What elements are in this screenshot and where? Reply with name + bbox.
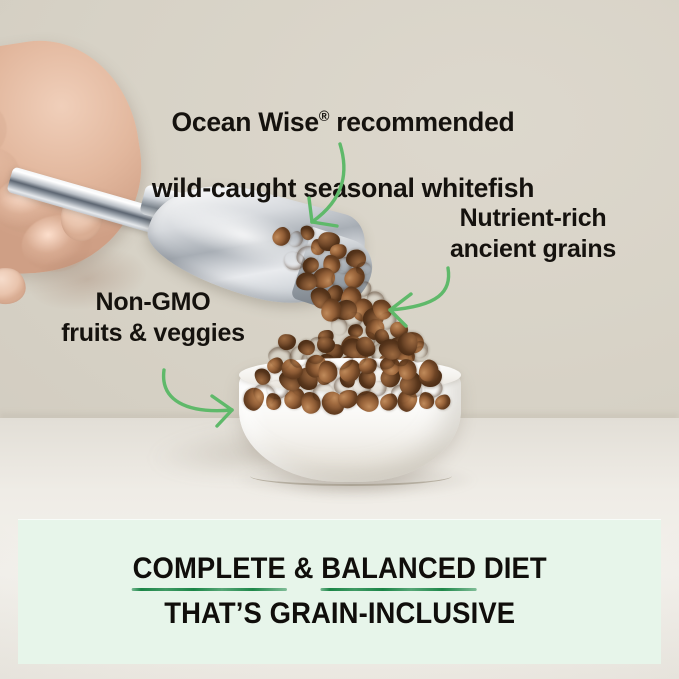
banner-word-balanced: BALANCED: [321, 552, 476, 586]
banner-ampersand: &: [286, 552, 321, 585]
kibble-piece: [355, 261, 371, 275]
banner-word-diet: DIET: [476, 552, 547, 585]
banner-word-complete: COMPLETE: [132, 552, 285, 586]
callout-ocean-wise-line1: Ocean Wise® recommended: [172, 107, 515, 137]
callout-ocean-wise-line2: wild-caught seasonal whitefish: [152, 173, 534, 203]
banner-content: COMPLETE & BALANCED DIET THAT’S GRAIN-IN…: [18, 519, 661, 664]
callout-nutrient-rich: Nutrient-rich ancient grains: [418, 203, 648, 265]
bottom-banner: COMPLETE & BALANCED DIET THAT’S GRAIN-IN…: [18, 519, 661, 664]
banner-headline-line1: COMPLETE & BALANCED DIET: [132, 552, 546, 586]
bowl-foot-line: [250, 466, 452, 486]
callout-non-gmo: Non-GMO fruits & veggies: [28, 287, 278, 349]
product-infographic: Ocean Wise® recommended wild-caught seas…: [0, 0, 679, 679]
registered-trademark-symbol: ®: [319, 109, 329, 125]
banner-headline-line2: THAT’S GRAIN-INCLUSIVE: [164, 597, 515, 631]
callout-ocean-wise: Ocean Wise® recommended wild-caught seas…: [96, 73, 590, 204]
